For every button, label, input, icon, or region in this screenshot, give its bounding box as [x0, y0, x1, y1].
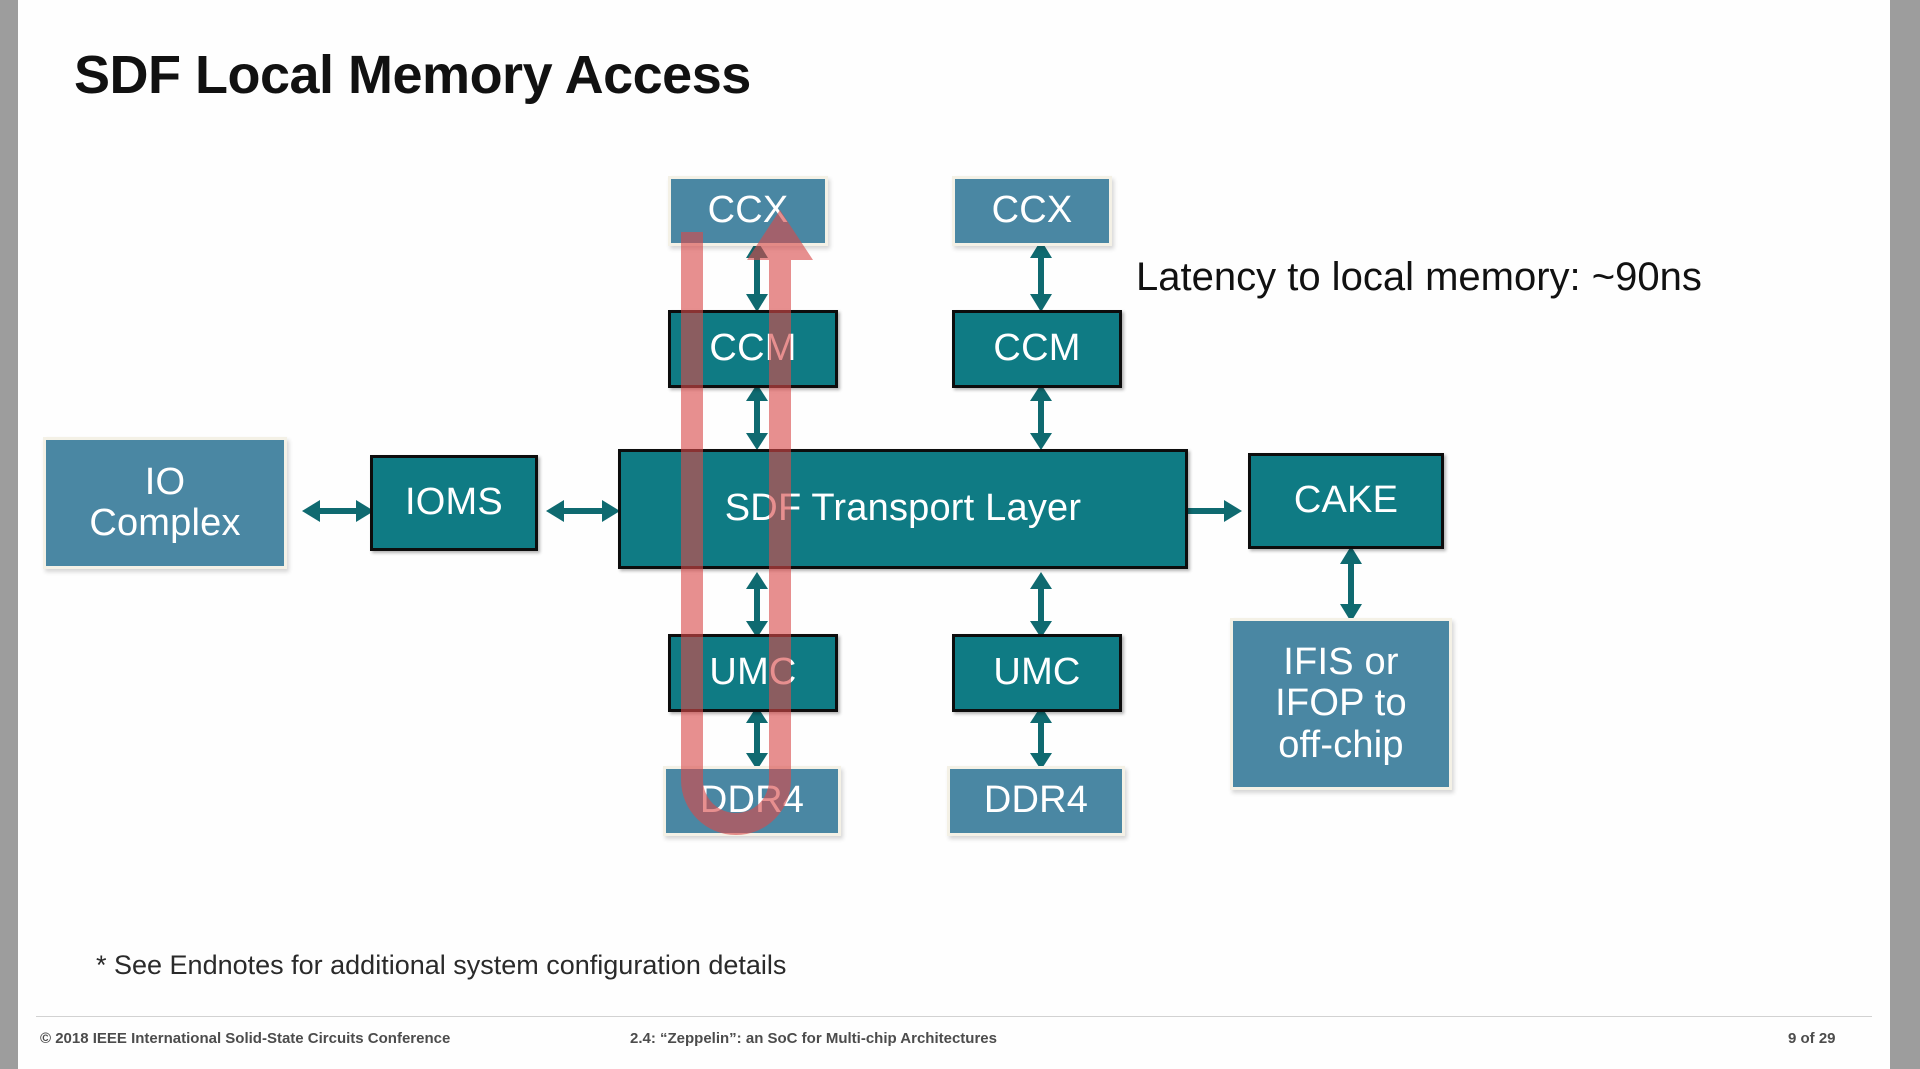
- block-ccm-2[interactable]: CCM: [952, 310, 1122, 388]
- block-label: IO Complex: [89, 462, 240, 544]
- block-label: UMC: [993, 652, 1080, 693]
- block-ccx-1[interactable]: CCX: [668, 176, 828, 246]
- block-label: CCM: [993, 328, 1080, 369]
- block-label: DDR4: [984, 780, 1088, 821]
- block-label: CAKE: [1294, 480, 1398, 521]
- connector-iocomplex-ioms: [302, 498, 374, 524]
- block-label: CCX: [992, 190, 1073, 231]
- connector-sdf-umc1: [744, 572, 770, 638]
- block-label: DDR4: [700, 780, 804, 821]
- footer-copyright: © 2018 IEEE International Solid-State Ci…: [40, 1030, 450, 1047]
- block-label: SDF Transport Layer: [725, 488, 1082, 529]
- block-ccx-2[interactable]: CCX: [952, 176, 1112, 246]
- connector-umc1-ddr4-1: [744, 706, 770, 770]
- block-label: UMC: [709, 652, 796, 693]
- block-label: CCM: [709, 328, 796, 369]
- block-diagram: IO Complex IOMS CCX CCM CCX CCM SDF Tran…: [18, 0, 1890, 1069]
- footer-session-title: 2.4: “Zeppelin”: an SoC for Multi-chip A…: [630, 1030, 997, 1047]
- block-label: CCX: [708, 190, 789, 231]
- block-ddr4-2[interactable]: DDR4: [947, 766, 1125, 836]
- connector-ioms-sdf: [546, 498, 620, 524]
- connector-ccx1-ccm1: [744, 240, 770, 312]
- footer-divider: [36, 1016, 1872, 1017]
- connector-ccm2-sdf: [1028, 384, 1054, 450]
- footer-page-number: 9 of 29: [1788, 1030, 1836, 1047]
- block-label: IOMS: [405, 482, 503, 523]
- block-umc-2[interactable]: UMC: [952, 634, 1122, 712]
- block-io-complex[interactable]: IO Complex: [43, 437, 287, 569]
- latency-annotation: Latency to local memory: ~90ns: [1136, 255, 1702, 300]
- connector-umc2-ddr4-2: [1028, 706, 1054, 770]
- slide-canvas: SDF Local Memory Access: [18, 0, 1890, 1069]
- block-ccm-1[interactable]: CCM: [668, 310, 838, 388]
- endnote-text: * See Endnotes for additional system con…: [96, 950, 786, 981]
- block-umc-1[interactable]: UMC: [668, 634, 838, 712]
- connector-ccm1-sdf: [744, 384, 770, 450]
- connector-sdf-umc2: [1028, 572, 1054, 638]
- connector-cake-ifis: [1338, 546, 1364, 622]
- block-ioms[interactable]: IOMS: [370, 455, 538, 551]
- block-ifis-ifop[interactable]: IFIS or IFOP to off-chip: [1230, 618, 1452, 790]
- connector-ccx2-ccm2: [1028, 240, 1054, 312]
- block-ddr4-1[interactable]: DDR4: [663, 766, 841, 836]
- block-sdf-transport-layer[interactable]: SDF Transport Layer: [618, 449, 1188, 569]
- block-cake[interactable]: CAKE: [1248, 453, 1444, 549]
- block-label: IFIS or IFOP to off-chip: [1275, 642, 1407, 765]
